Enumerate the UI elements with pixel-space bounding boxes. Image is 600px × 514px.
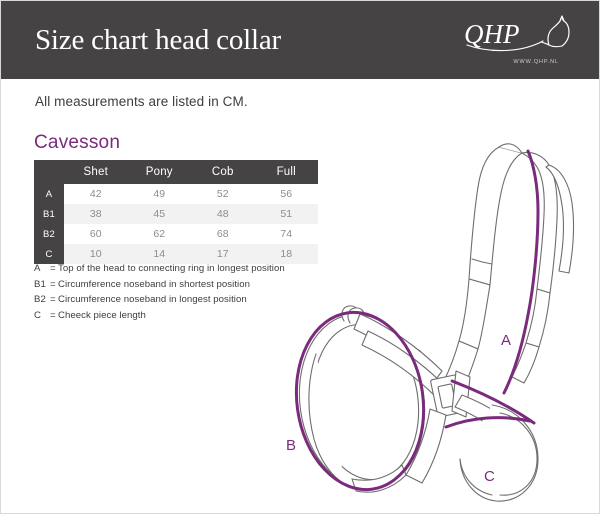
row-label-b1: B1 <box>34 204 64 224</box>
column-header-cob: Cob <box>191 160 255 184</box>
cell-b1-cob: 48 <box>191 204 255 224</box>
cell-b2-cob: 68 <box>191 224 255 244</box>
page-title: Size chart head collar <box>35 24 281 57</box>
column-header-pony: Pony <box>128 160 192 184</box>
diagram-label-b: B <box>286 437 296 454</box>
row-label-b2: B2 <box>34 224 64 244</box>
cell-b1-shet: 38 <box>64 204 128 224</box>
diagram-label-a: A <box>501 332 511 349</box>
head-collar-illustration-svg <box>256 109 600 509</box>
legend-equals: = <box>50 261 58 277</box>
svg-text:QHP: QHP <box>464 19 520 49</box>
section-heading-cavesson: Cavesson <box>34 132 120 154</box>
legend-equals: = <box>50 277 58 293</box>
cell-a-shet: 42 <box>64 184 128 204</box>
column-header-shet: Shet <box>64 160 128 184</box>
legend-key-b2: B2 <box>34 292 50 308</box>
row-label-a: A <box>34 184 64 204</box>
legend-equals: = <box>50 292 58 308</box>
brand-logo: QHP WWW.QHP.NL <box>463 15 575 66</box>
legend-key-a: A <box>34 261 50 277</box>
page-header: Size chart head collar QHP <box>1 1 600 79</box>
measurements-note: All measurements are listed in CM. <box>35 94 248 109</box>
legend-key-c: C <box>34 308 50 324</box>
legend-key-b1: B1 <box>34 277 50 293</box>
legend-equals: = <box>50 308 58 324</box>
cell-b2-pony: 62 <box>128 224 192 244</box>
logo-url-text: WWW.QHP.NL <box>513 60 559 66</box>
table-corner-cell <box>34 160 64 184</box>
cell-b1-pony: 45 <box>128 204 192 224</box>
cell-a-pony: 49 <box>128 184 192 204</box>
qhp-logo-icon: QHP <box>463 15 575 59</box>
size-chart-page: Size chart head collar QHP <box>0 0 600 514</box>
cell-b2-shet: 60 <box>64 224 128 244</box>
head-collar-diagram: A B C <box>256 109 600 509</box>
diagram-label-c: C <box>484 468 495 485</box>
cell-a-cob: 52 <box>191 184 255 204</box>
